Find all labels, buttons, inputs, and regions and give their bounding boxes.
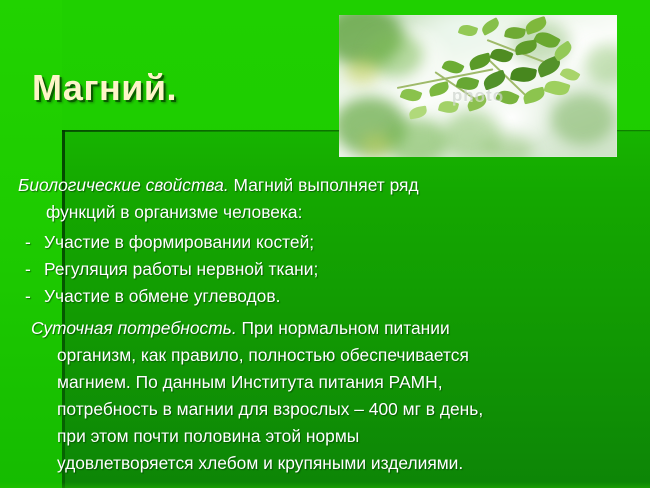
leaves-photo: photo	[339, 15, 617, 157]
bokeh-blob	[551, 93, 615, 145]
bottom-edge-strip	[0, 482, 650, 488]
bullet-marker: -	[18, 283, 44, 310]
list-item: - Участие в обмене углеводов.	[18, 283, 632, 310]
daily-rest: При нормальном питании	[237, 318, 450, 338]
list-item: - Участие в формировании костей;	[18, 229, 632, 256]
slide-title: Магний.	[32, 67, 177, 109]
daily-requirement-paragraph: Суточная потребность. При нормальном пит…	[18, 315, 632, 477]
photo-watermark: photo	[452, 86, 504, 106]
daily-first-line: Суточная потребность. При нормальном пит…	[46, 315, 632, 342]
daily-line: при этом почти половина этой нормы	[46, 423, 632, 450]
bokeh-blob	[387, 119, 449, 157]
list-item-label: Регуляция работы нервной ткани;	[44, 256, 632, 283]
daily-line: организм, как правило, полностью обеспеч…	[46, 342, 632, 369]
daily-line: магнием. По данным Института питания РАМ…	[46, 369, 632, 396]
list-item-label: Участие в формировании костей;	[44, 229, 632, 256]
daily-emphasis: Суточная потребность.	[31, 318, 237, 338]
lead-paragraph: Биологические свойства. Магний выполняет…	[18, 172, 632, 226]
bullet-marker: -	[18, 229, 44, 256]
presentation-slide: Магний.	[0, 0, 650, 488]
lead-emphasis: Биологические свойства.	[18, 175, 229, 195]
bokeh-blob	[485, 135, 533, 157]
daily-line: удовлетворяется хлебом и крупяными издел…	[46, 450, 632, 477]
bullet-marker: -	[18, 256, 44, 283]
lead-rest: Магний выполняет ряд	[229, 175, 419, 195]
list-item-label: Участие в обмене углеводов.	[44, 283, 632, 310]
daily-line: потребность в магнии для взрослых – 400 …	[46, 396, 632, 423]
lead-continuation: функций в организме человека:	[18, 199, 632, 226]
slide-body: Биологические свойства. Магний выполняет…	[18, 172, 632, 477]
list-item: - Регуляция работы нервной ткани;	[18, 256, 632, 283]
bokeh-blob	[345, 59, 379, 85]
bokeh-blob	[361, 133, 391, 157]
